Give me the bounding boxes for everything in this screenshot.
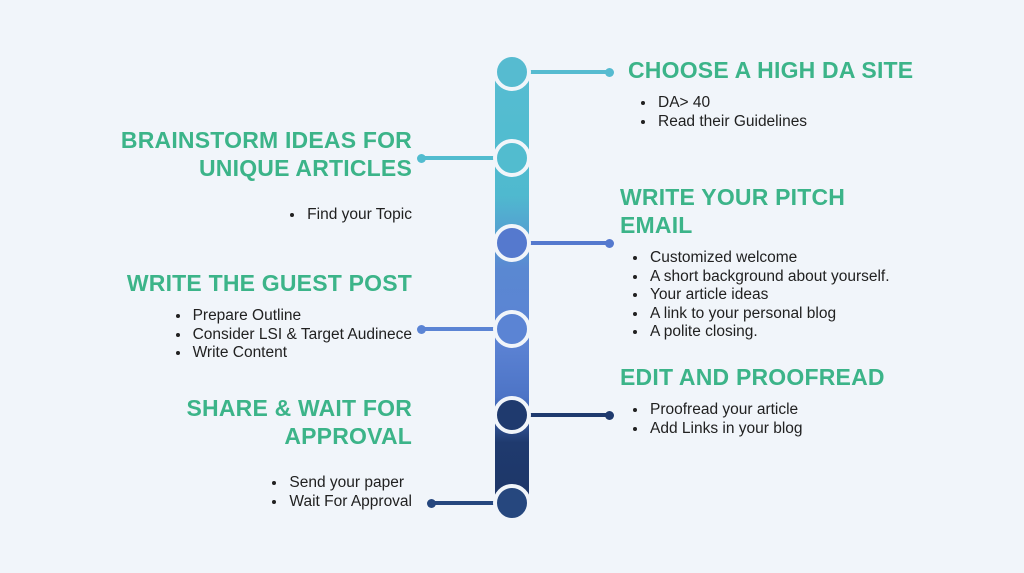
step-block-1: CHOOSE A HIGH DA SITE DA> 40 Read their …	[628, 56, 988, 131]
connector-step-6	[428, 501, 495, 505]
connector-step-3	[529, 241, 613, 245]
step-block-6: SHARE & WAIT FOR APPROVAL Send your pape…	[104, 394, 412, 511]
list-item: Your article ideas	[648, 286, 950, 305]
list-item: A link to your personal blog	[648, 305, 950, 324]
timeline-node-4[interactable]	[493, 310, 531, 348]
list-item: Proofread your article	[648, 401, 960, 420]
list-item: A polite closing.	[648, 323, 950, 342]
step-bullets-3: Customized welcome A short background ab…	[620, 249, 950, 342]
list-item: Consider LSI & Target Audinece	[191, 326, 412, 345]
step-bullets-6: Send your paper Wait For Approval	[265, 474, 412, 511]
step-bullets-1: DA> 40 Read their Guidelines	[628, 94, 988, 131]
step-title-3: WRITE YOUR PITCH EMAIL	[620, 183, 880, 239]
step-title-2: BRAINSTORM IDEAS FOR UNIQUE ARTICLES	[100, 126, 412, 182]
timeline-bar	[495, 58, 529, 516]
guest-post-timeline-infographic: CHOOSE A HIGH DA SITE DA> 40 Read their …	[0, 0, 1024, 573]
list-item: Read their Guidelines	[656, 113, 988, 132]
list-item: Write Content	[191, 344, 412, 363]
timeline-node-1[interactable]	[493, 53, 531, 91]
list-item: Add Links in your blog	[648, 420, 960, 439]
list-item: Send your paper	[287, 474, 412, 493]
step-bullets-4: Prepare Outline Consider LSI & Target Au…	[169, 307, 412, 363]
step-bullets-2: Find your Topic	[283, 206, 412, 225]
timeline-node-6[interactable]	[493, 484, 531, 522]
step-block-3: WRITE YOUR PITCH EMAIL Customized welcom…	[620, 183, 950, 342]
step-title-5: EDIT AND PROOFREAD	[620, 363, 960, 391]
step-title-1: CHOOSE A HIGH DA SITE	[628, 56, 988, 84]
step-block-4: WRITE THE GUEST POST Prepare Outline Con…	[96, 269, 412, 363]
list-item: Find your Topic	[305, 206, 412, 225]
connector-step-4	[418, 327, 495, 331]
timeline-node-3[interactable]	[493, 224, 531, 262]
connector-step-1	[529, 70, 613, 74]
timeline-node-2[interactable]	[493, 139, 531, 177]
list-item: Wait For Approval	[287, 493, 412, 512]
timeline-node-5[interactable]	[493, 396, 531, 434]
list-item: A short background about yourself.	[648, 268, 950, 287]
list-item: Customized welcome	[648, 249, 950, 268]
list-item: Prepare Outline	[191, 307, 412, 326]
connector-step-5	[529, 413, 613, 417]
list-item: DA> 40	[656, 94, 988, 113]
step-title-6: SHARE & WAIT FOR APPROVAL	[104, 394, 412, 450]
step-block-5: EDIT AND PROOFREAD Proofread your articl…	[620, 363, 960, 438]
step-block-2: BRAINSTORM IDEAS FOR UNIQUE ARTICLES Fin…	[100, 126, 412, 225]
connector-step-2	[418, 156, 495, 160]
step-bullets-5: Proofread your article Add Links in your…	[620, 401, 960, 438]
step-title-4: WRITE THE GUEST POST	[96, 269, 412, 297]
